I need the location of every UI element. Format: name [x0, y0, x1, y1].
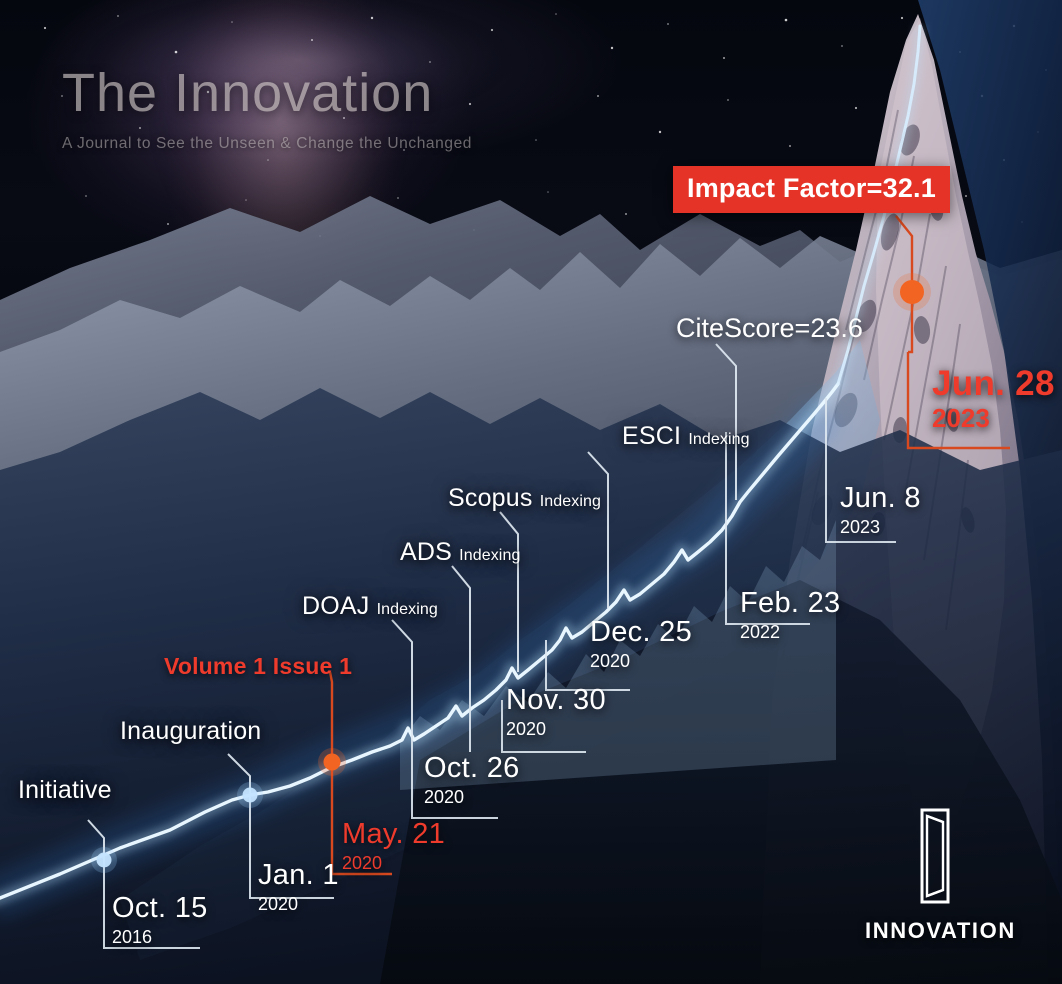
- date-dec-25-2020: Dec. 25 2020: [590, 618, 692, 670]
- journal-title: The Innovation: [62, 62, 472, 124]
- infographic-canvas: The Innovation A Journal to See the Unse…: [0, 0, 1062, 984]
- date-jun-28-day: Jun. 28: [932, 366, 1055, 401]
- journal-tagline: A Journal to See the Unseen & Change the…: [62, 135, 472, 153]
- milestone-doaj-name: DOAJ: [302, 592, 369, 620]
- date-dec-25-day: Dec. 25: [590, 618, 692, 647]
- date-jun-8-2023: Jun. 8 2023: [840, 484, 921, 536]
- innovation-logo: INNOVATION: [865, 808, 1005, 944]
- milestone-initiative: Initiative: [18, 778, 112, 803]
- date-nov-30-2020: Nov. 30 2020: [506, 686, 606, 738]
- date-feb-23-day: Feb. 23: [740, 589, 840, 618]
- journal-masthead: The Innovation A Journal to See the Unse…: [62, 62, 472, 153]
- milestone-volume-1-issue-1: Volume 1 Issue 1: [164, 655, 352, 678]
- date-may-21-day: May. 21: [342, 820, 445, 849]
- date-oct-15-2016: Oct. 15 2016: [112, 894, 208, 946]
- milestone-ads: ADS Indexing: [400, 540, 520, 565]
- milestone-inauguration: Inauguration: [120, 719, 261, 744]
- date-nov-30-day: Nov. 30: [506, 686, 606, 715]
- milestone-doaj: DOAJ Indexing: [302, 594, 438, 619]
- date-may-21-2020: May. 21 2020: [342, 820, 445, 872]
- date-jun-8-year: 2023: [840, 518, 921, 536]
- date-nov-30-year: 2020: [506, 720, 606, 738]
- date-jan-1-2020: Jan. 1 2020: [258, 861, 339, 913]
- impact-factor-badge[interactable]: Impact Factor=32.1: [673, 166, 950, 213]
- date-jan-1-day: Jan. 1: [258, 861, 339, 890]
- citescore-label: CiteScore=23.6: [676, 315, 863, 342]
- date-oct-15-day: Oct. 15: [112, 894, 208, 923]
- date-oct-26-year: 2020: [424, 788, 520, 806]
- innovation-door-icon: [905, 808, 965, 904]
- milestone-ads-name: ADS: [400, 538, 452, 566]
- milestone-scopus: Scopus Indexing: [448, 486, 601, 511]
- date-oct-26-2020: Oct. 26 2020: [424, 754, 520, 806]
- milestone-esci: ESCI Indexing: [622, 424, 750, 449]
- date-jun-8-day: Jun. 8: [840, 484, 921, 513]
- date-jun-28-year: 2023: [932, 405, 1055, 431]
- date-oct-26-day: Oct. 26: [424, 754, 520, 783]
- text-overlay: The Innovation A Journal to See the Unse…: [0, 0, 1062, 984]
- innovation-wordmark: INNOVATION: [865, 918, 1005, 944]
- milestone-doaj-suffix: Indexing: [377, 601, 438, 618]
- milestone-ads-suffix: Indexing: [459, 547, 520, 564]
- date-may-21-year: 2020: [342, 854, 445, 872]
- date-jan-1-year: 2020: [258, 895, 339, 913]
- date-feb-23-2022: Feb. 23 2022: [740, 589, 840, 641]
- milestone-scopus-suffix: Indexing: [540, 493, 601, 510]
- date-jun-28-2023: Jun. 28 2023: [932, 366, 1055, 431]
- milestone-scopus-name: Scopus: [448, 484, 533, 512]
- milestone-esci-suffix: Indexing: [688, 431, 749, 448]
- date-feb-23-year: 2022: [740, 623, 840, 641]
- milestone-esci-name: ESCI: [622, 422, 681, 450]
- date-oct-15-year: 2016: [112, 928, 208, 946]
- date-dec-25-year: 2020: [590, 652, 692, 670]
